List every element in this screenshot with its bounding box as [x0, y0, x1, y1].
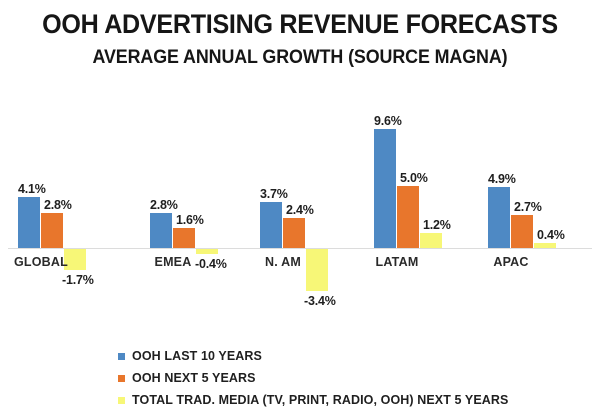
bar-value-label: 0.4% — [537, 228, 565, 242]
bar-apac-series0[interactable] — [488, 187, 510, 248]
bar-nam-series1[interactable] — [283, 218, 305, 248]
bar-value-label: -1.7% — [62, 273, 94, 287]
legend-item[interactable]: OOH LAST 10 YEARS — [118, 345, 538, 367]
legend-item[interactable]: TOTAL TRAD. MEDIA (TV, PRINT, RADIO, OOH… — [118, 389, 538, 411]
category-label-emea: EMEA — [144, 255, 202, 269]
legend-label: TOTAL TRAD. MEDIA (TV, PRINT, RADIO, OOH… — [132, 393, 509, 407]
bar-value-label: 3.7% — [260, 187, 288, 201]
category-label-global: GLOBAL — [12, 255, 70, 269]
bar-value-label: 2.8% — [150, 198, 178, 212]
chart-legend: OOH LAST 10 YEARSOOH NEXT 5 YEARSTOTAL T… — [118, 345, 538, 411]
legend-swatch-icon — [118, 353, 125, 360]
chart-subtitle: AVERAGE ANNUAL GROWTH (SOURCE MAGNA) — [18, 39, 582, 69]
bar-latam-series1[interactable] — [397, 186, 419, 248]
category-label-apac: APAC — [482, 255, 540, 269]
legend-swatch-icon — [118, 375, 125, 382]
bar-value-label: -3.4% — [304, 294, 336, 308]
bar-global-series1[interactable] — [41, 213, 63, 248]
chart-plot-area: 4.1%2.8%-1.7%2.8%1.6%-0.4%3.7%2.4%-3.4%9… — [0, 95, 600, 320]
bar-value-label: 9.6% — [374, 114, 402, 128]
bar-emea-series0[interactable] — [150, 213, 172, 248]
bar-nam-series0[interactable] — [260, 202, 282, 248]
legend-item[interactable]: OOH NEXT 5 YEARS — [118, 367, 538, 389]
chart-header: OOH ADVERTISING REVENUE FORECASTS AVERAG… — [0, 0, 600, 69]
bar-group: 4.9%2.7%0.4% — [488, 95, 558, 320]
category-label-nam: N. AM — [254, 255, 312, 269]
bar-global-series0[interactable] — [18, 197, 40, 248]
bar-group: 3.7%2.4%-3.4% — [260, 95, 330, 320]
bar-value-label: 4.1% — [18, 182, 46, 196]
bar-emea-series2[interactable] — [196, 249, 218, 254]
bar-group: 2.8%1.6%-0.4% — [150, 95, 220, 320]
bar-value-label: 4.9% — [488, 172, 516, 186]
bar-value-label: 2.7% — [514, 200, 542, 214]
legend-label: OOH LAST 10 YEARS — [132, 349, 262, 363]
category-label-latam: LATAM — [368, 255, 426, 269]
chart-title: OOH ADVERTISING REVENUE FORECASTS — [21, 0, 579, 39]
bar-value-label: 2.4% — [286, 203, 314, 217]
bar-value-label: 1.2% — [423, 218, 451, 232]
bar-value-label: 2.8% — [44, 198, 72, 212]
bar-latam-series0[interactable] — [374, 129, 396, 248]
bar-group: 9.6%5.0%1.2% — [374, 95, 444, 320]
bar-value-label: 1.6% — [176, 213, 204, 227]
bar-group: 4.1%2.8%-1.7% — [18, 95, 88, 320]
bar-apac-series2[interactable] — [534, 243, 556, 248]
bar-latam-series2[interactable] — [420, 233, 442, 248]
bar-apac-series1[interactable] — [511, 215, 533, 248]
legend-swatch-icon — [118, 397, 125, 404]
bar-value-label: 5.0% — [400, 171, 428, 185]
bar-emea-series1[interactable] — [173, 228, 195, 248]
legend-label: OOH NEXT 5 YEARS — [132, 371, 256, 385]
